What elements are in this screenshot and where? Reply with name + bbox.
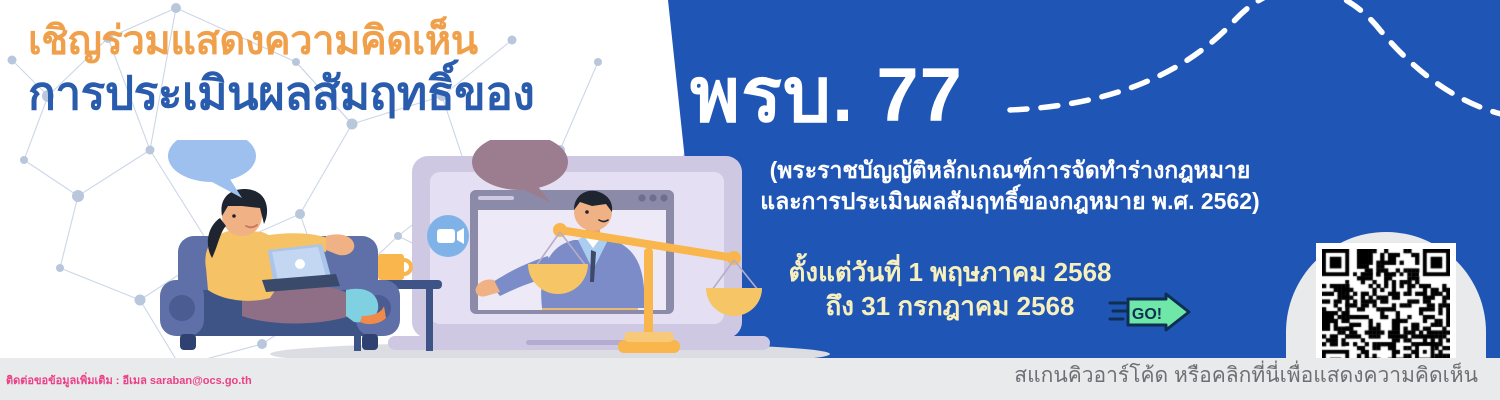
date-end-row: ถึง 31 กรกฎาคม 2568 xyxy=(740,289,1160,323)
act-subtitle-line2: และการประเมินผลสัมฤทธิ์ของกฎหมาย พ.ศ. 25… xyxy=(690,186,1330,217)
headline-invite: เชิญร่วมแสดงความคิดเห็น xyxy=(28,18,688,64)
date-end: ถึง 31 กรกฎาคม 2568 xyxy=(826,289,1075,323)
go-label: GO! xyxy=(1132,306,1162,323)
act-subtitle: (พระราชบัญญัติหลักเกณฑ์การจัดทำร่างกฎหมา… xyxy=(690,155,1330,217)
coffee-mug-icon xyxy=(378,254,411,280)
act-subtitle-line1: (พระราชบัญญัติหลักเกณฑ์การจัดทำร่างกฎหมา… xyxy=(690,155,1330,186)
promo-banner: เชิญร่วมแสดงความคิดเห็น การประเมินผลสัมฤ… xyxy=(0,0,1500,400)
headline-assessment: การประเมินผลสัมฤทธิ์ของ xyxy=(28,66,688,121)
date-range: ตั้งแต่วันที่ 1 พฤษภาคม 2568 ถึง 31 กรกฎ… xyxy=(740,255,1160,324)
date-start: ตั้งแต่วันที่ 1 พฤษภาคม 2568 xyxy=(740,255,1160,289)
video-call-window xyxy=(470,190,674,314)
speed-lines-icon xyxy=(1110,303,1126,319)
scan-instruction-text[interactable]: สแกนคิวอาร์โค้ด หรือคลิกที่นี่เพื่อแสดงค… xyxy=(1014,359,1478,392)
headline-group: เชิญร่วมแสดงความคิดเห็น การประเมินผลสัมฤ… xyxy=(28,18,688,121)
video-camera-icon xyxy=(427,215,469,257)
act-title: พรบ. 77 xyxy=(690,60,1310,132)
contact-email-text: ติดต่อขอข้อมูลเพิ่มเติม : อีเมล saraban@… xyxy=(6,371,252,389)
go-button[interactable]: GO! xyxy=(1108,292,1192,332)
